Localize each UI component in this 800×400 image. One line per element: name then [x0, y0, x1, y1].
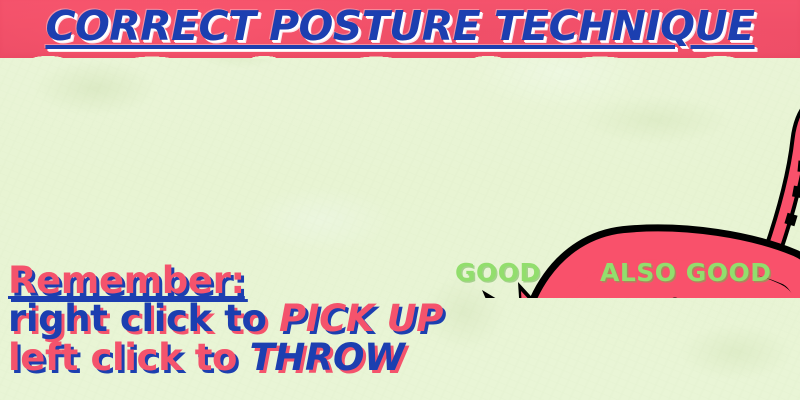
- caption-pick-up-emphasis: PICK UP: [279, 297, 443, 340]
- figure-label-good: GOOD: [455, 258, 541, 287]
- caption-line-right-click: right click to PICK UP: [8, 300, 443, 338]
- page-title: CORRECT POSTURE TECHNIQUE: [0, 2, 800, 50]
- posture-poster: CORRECT POSTURE TECHNIQUE: [0, 0, 800, 400]
- caption-throw-emphasis: THROW: [250, 336, 405, 379]
- caption-block: Remember: right click to PICK UP left cl…: [8, 262, 443, 377]
- figure-label-also-good: ALSO GOOD: [600, 258, 772, 287]
- caption-left-click-prefix: left click to: [8, 336, 250, 379]
- cat-good-tail: [772, 98, 800, 253]
- caption-right-click-prefix: right click to: [8, 297, 279, 340]
- caption-line-left-click: left click to THROW: [8, 339, 443, 377]
- caption-remember: Remember:: [8, 262, 443, 300]
